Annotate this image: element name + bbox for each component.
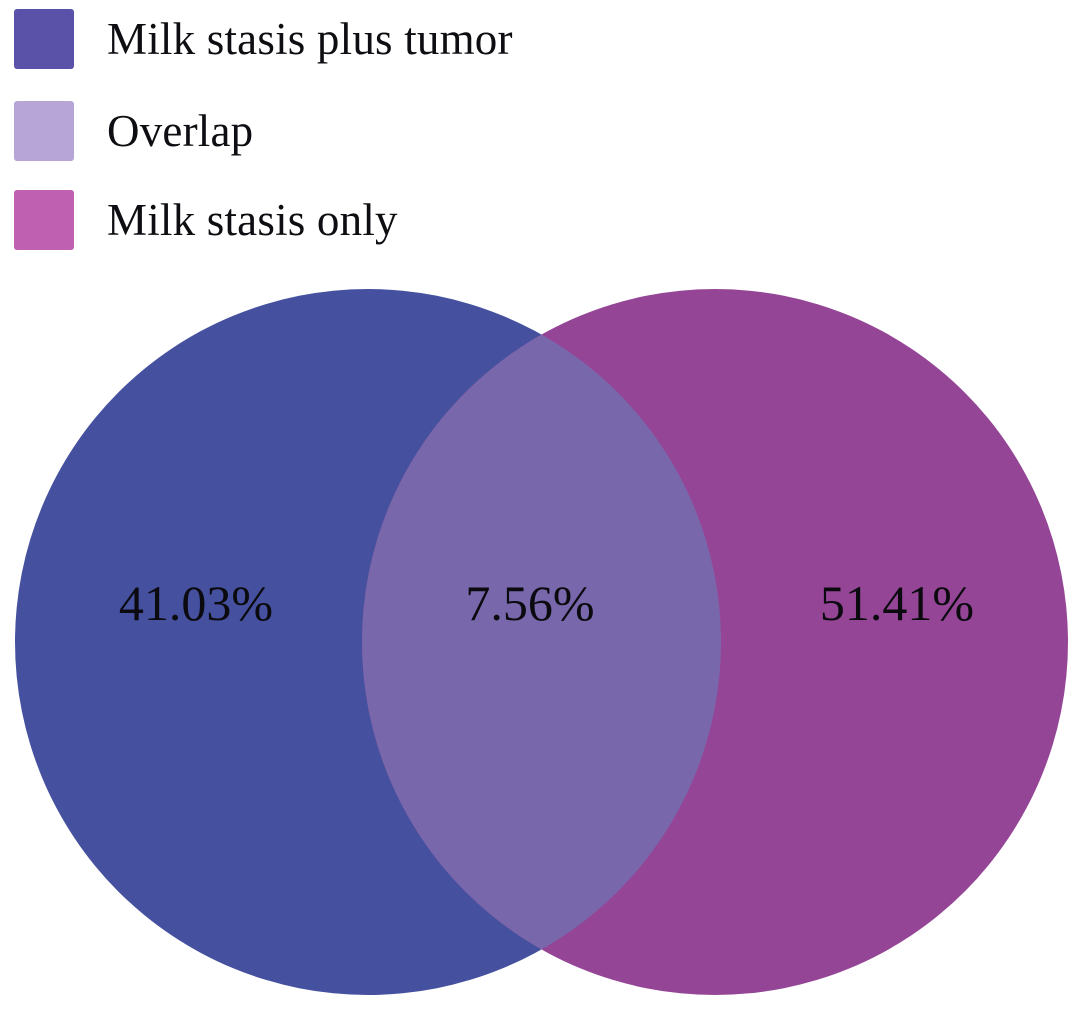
venn-figure: Milk stasis plus tumor Overlap Milk stas… — [0, 0, 1087, 1012]
venn-label-overlap: 7.56% — [465, 575, 594, 631]
legend-label-milk-stasis-plus-tumor: Milk stasis plus tumor — [107, 17, 513, 62]
venn-label-milk-stasis-plus-tumor: 41.03% — [119, 575, 273, 631]
legend: Milk stasis plus tumor Overlap Milk stas… — [0, 0, 620, 275]
legend-swatch-overlap — [14, 101, 74, 161]
legend-item-milk-stasis-only[interactable]: Milk stasis only — [0, 189, 398, 251]
venn-diagram: 41.03% 7.56% 51.41% — [0, 270, 1087, 1012]
legend-label-overlap: Overlap — [107, 109, 253, 154]
legend-item-milk-stasis-plus-tumor[interactable]: Milk stasis plus tumor — [0, 8, 513, 70]
venn-label-milk-stasis-only: 51.41% — [820, 575, 974, 631]
legend-label-milk-stasis-only: Milk stasis only — [107, 198, 398, 243]
legend-swatch-milk-stasis-only — [14, 190, 74, 250]
legend-swatch-milk-stasis-plus-tumor — [14, 9, 74, 69]
legend-item-overlap[interactable]: Overlap — [0, 100, 253, 162]
